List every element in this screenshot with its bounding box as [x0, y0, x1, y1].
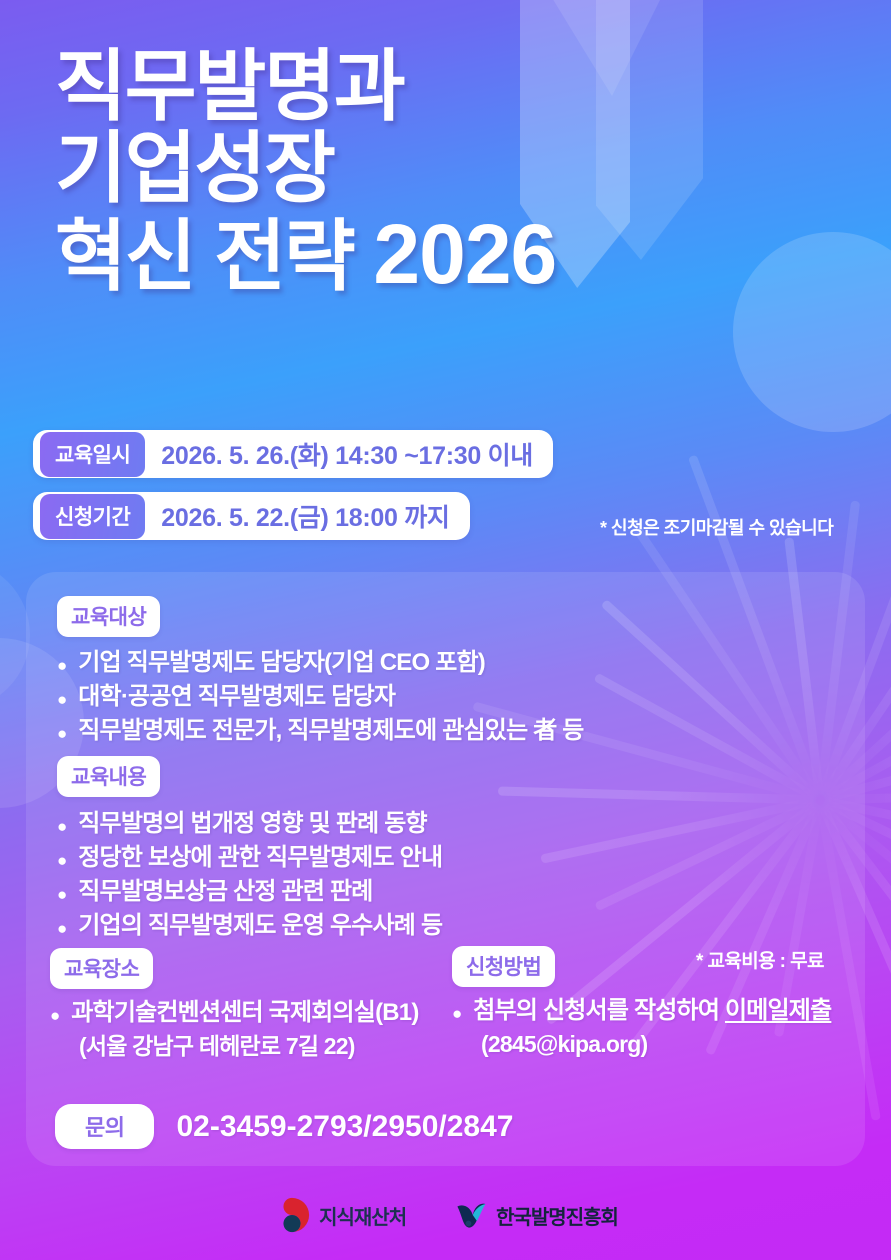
venue-address-text: (서울 강남구 테헤란로 7길 22) [79, 1030, 480, 1062]
list-item: ● 직무발명의 법개정 영향 및 판례 동향 [57, 807, 442, 841]
section-label-apply: 신청방법 [452, 946, 555, 987]
logo-kipa-name: 한국발명진흥회 [496, 1201, 618, 1230]
apply-instruction: 첨부의 신청서를 작성하여 이메일제출 [473, 994, 831, 1028]
bullet-dot-icon: ● [57, 691, 67, 708]
curriculum-item-text: 직무발명보상금 산정 관련 판례 [78, 875, 372, 909]
email-submit-link[interactable]: 이메일제출 [725, 997, 831, 1024]
schedule-row-date: 교육일시 2026. 5. 26.(화) 14:30 ~17:30 이내 [33, 430, 553, 478]
list-item: ● 첨부의 신청서를 작성하여 이메일제출 [452, 994, 872, 1028]
section-label-venue: 교육장소 [50, 948, 153, 989]
bullet-dot-icon: ● [57, 920, 67, 937]
logo-kipa: 한국발명진흥회 [454, 1198, 618, 1232]
section-target: 교육대상 ● 기업 직무발명제도 담당자(기업 CEO 포함) ● 대학·공공연… [57, 596, 584, 748]
list-item: ● 정당한 보상에 관한 직무발명제도 안내 [57, 841, 442, 875]
curriculum-item-text: 정당한 보상에 관한 직무발명제도 안내 [78, 841, 442, 875]
section-contact: 문의 02-3459-2793/2950/2847 [55, 1104, 513, 1149]
footer-logos: 지식재산처 한국발명진흥회 [0, 1196, 891, 1234]
target-item-text: 대학·공공연 직무발명제도 담당자 [78, 680, 395, 714]
contact-phone[interactable]: 02-3459-2793/2950/2847 [176, 1110, 513, 1144]
target-item-text: 직무발명제도 전문가, 직무발명제도에 관심있는 者 등 [78, 714, 583, 748]
venue-name-text: 과학기술컨벤션센터 국제회의실(B1) [71, 996, 418, 1030]
apply-instruction-prefix: 첨부의 신청서를 작성하여 [473, 997, 725, 1024]
section-curriculum: 교육내용 ● 직무발명의 법개정 영향 및 판례 동향 ● 정당한 보상에 관한… [57, 756, 442, 943]
schedule-label-period: 신청기간 [40, 494, 145, 539]
bullet-dot-icon: ● [57, 657, 67, 674]
list-item: ● 과학기술컨벤션센터 국제회의실(B1) [50, 996, 480, 1030]
crystal-shape-right-icon [596, 0, 703, 260]
list-item: ● 직무발명보상금 산정 관련 판례 [57, 875, 442, 909]
title-line-3-text: 혁신 전략 [55, 212, 354, 300]
bullet-dot-icon: ● [57, 852, 67, 869]
curriculum-list: ● 직무발명의 법개정 영향 및 판례 동향 ● 정당한 보상에 관한 직무발명… [57, 807, 442, 943]
decorative-circle-top-right [733, 232, 891, 432]
section-label-target: 교육대상 [57, 596, 160, 637]
target-list: ● 기업 직무발명제도 담당자(기업 CEO 포함) ● 대학·공공연 직무발명… [57, 646, 584, 748]
schedule-value-period: 2026. 5. 22.(금) 18:00 까지 [161, 498, 449, 534]
title-line-1: 직무발명과 [55, 48, 556, 124]
title-line-3: 혁신 전략 2026 [55, 213, 556, 295]
section-venue: 교육장소 ● 과학기술컨벤션센터 국제회의실(B1) (서울 강남구 테헤란로 … [50, 948, 480, 1062]
poster-canvas: 직무발명과 기업성장 혁신 전략 2026 교육일시 2026. 5. 26.(… [0, 0, 891, 1260]
list-item: ● 직무발명제도 전문가, 직무발명제도에 관심있는 者 등 [57, 714, 584, 748]
kipa-bird-icon [454, 1198, 488, 1232]
list-item: ● 기업 직무발명제도 담당자(기업 CEO 포함) [57, 646, 584, 680]
list-item: ● 대학·공공연 직무발명제도 담당자 [57, 680, 584, 714]
list-item: ● 기업의 직무발명제도 운영 우수사례 등 [57, 909, 442, 943]
apply-list: ● 첨부의 신청서를 작성하여 이메일제출 (2845@kipa.org) [452, 994, 872, 1060]
logo-kipo-name: 지식재산처 [319, 1201, 406, 1230]
bullet-dot-icon: ● [57, 886, 67, 903]
early-close-note: * 신청은 조기마감될 수 있습니다 [600, 514, 833, 540]
schedule-value-date: 2026. 5. 26.(화) 14:30 ~17:30 이내 [161, 436, 533, 472]
venue-list: ● 과학기술컨벤션센터 국제회의실(B1) (서울 강남구 테헤란로 7길 22… [50, 996, 480, 1062]
crystal-facet-icon [546, 0, 666, 96]
bullet-dot-icon: ● [50, 1007, 60, 1024]
target-item-text: 기업 직무발명제도 담당자(기업 CEO 포함) [78, 646, 485, 680]
section-label-curriculum: 교육내용 [57, 756, 160, 797]
taegeuk-icon [273, 1196, 311, 1234]
title-year: 2026 [373, 207, 556, 301]
schedule-label-date: 교육일시 [40, 432, 145, 477]
poster-title: 직무발명과 기업성장 혁신 전략 2026 [55, 48, 556, 295]
bullet-dot-icon: ● [57, 818, 67, 835]
logo-kipo: 지식재산처 [273, 1196, 406, 1234]
bullet-dot-icon: ● [57, 725, 67, 742]
fee-note: * 교육비용 : 무료 [696, 946, 824, 973]
schedule-row-period: 신청기간 2026. 5. 22.(금) 18:00 까지 [33, 492, 470, 540]
curriculum-item-text: 기업의 직무발명제도 운영 우수사례 등 [78, 909, 442, 943]
curriculum-item-text: 직무발명의 법개정 영향 및 판례 동향 [78, 807, 427, 841]
apply-email-text[interactable]: (2845@kipa.org) [481, 1028, 872, 1060]
title-line-2: 기업성장 [55, 130, 556, 206]
bullet-dot-icon: ● [452, 1005, 462, 1022]
contact-label: 문의 [55, 1104, 154, 1149]
